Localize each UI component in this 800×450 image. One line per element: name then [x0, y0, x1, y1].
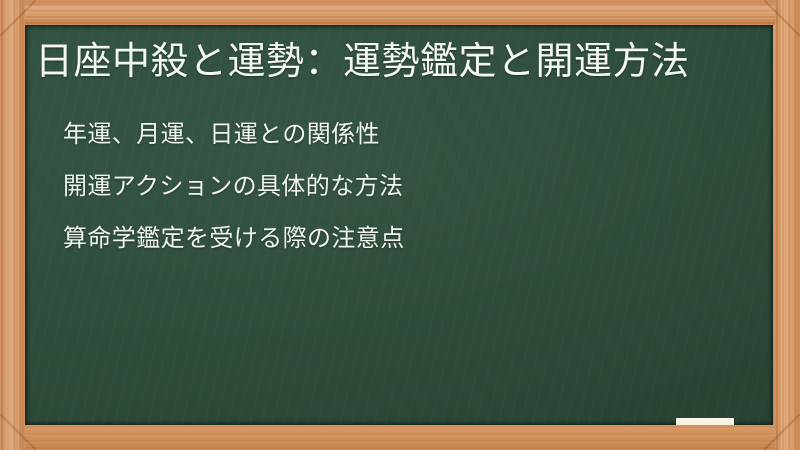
chalkboard-slide: 日座中殺と運勢：運勢鑑定と開運方法 年運、月運、日運との関係性 開運アクションの…	[0, 0, 800, 450]
list-item: 年運、月運、日運との関係性	[63, 109, 753, 161]
frame-rail-bottom	[0, 425, 800, 450]
frame-rail-left	[0, 0, 25, 450]
frame-rail-right	[775, 0, 800, 450]
bullet-list: 年運、月運、日運との関係性 開運アクションの具体的な方法 算命学鑑定を受ける際の…	[63, 109, 753, 265]
frame-rail-top	[0, 0, 800, 25]
list-item: 算命学鑑定を受ける際の注意点	[63, 213, 753, 265]
chalkboard-surface: 日座中殺と運勢：運勢鑑定と開運方法 年運、月運、日運との関係性 開運アクションの…	[25, 25, 773, 425]
board-content: 日座中殺と運勢：運勢鑑定と開運方法 年運、月運、日運との関係性 開運アクションの…	[25, 25, 773, 425]
chalk-stick-icon	[676, 418, 734, 425]
page-title: 日座中殺と運勢：運勢鑑定と開運方法	[35, 39, 763, 85]
list-item: 開運アクションの具体的な方法	[63, 161, 753, 213]
